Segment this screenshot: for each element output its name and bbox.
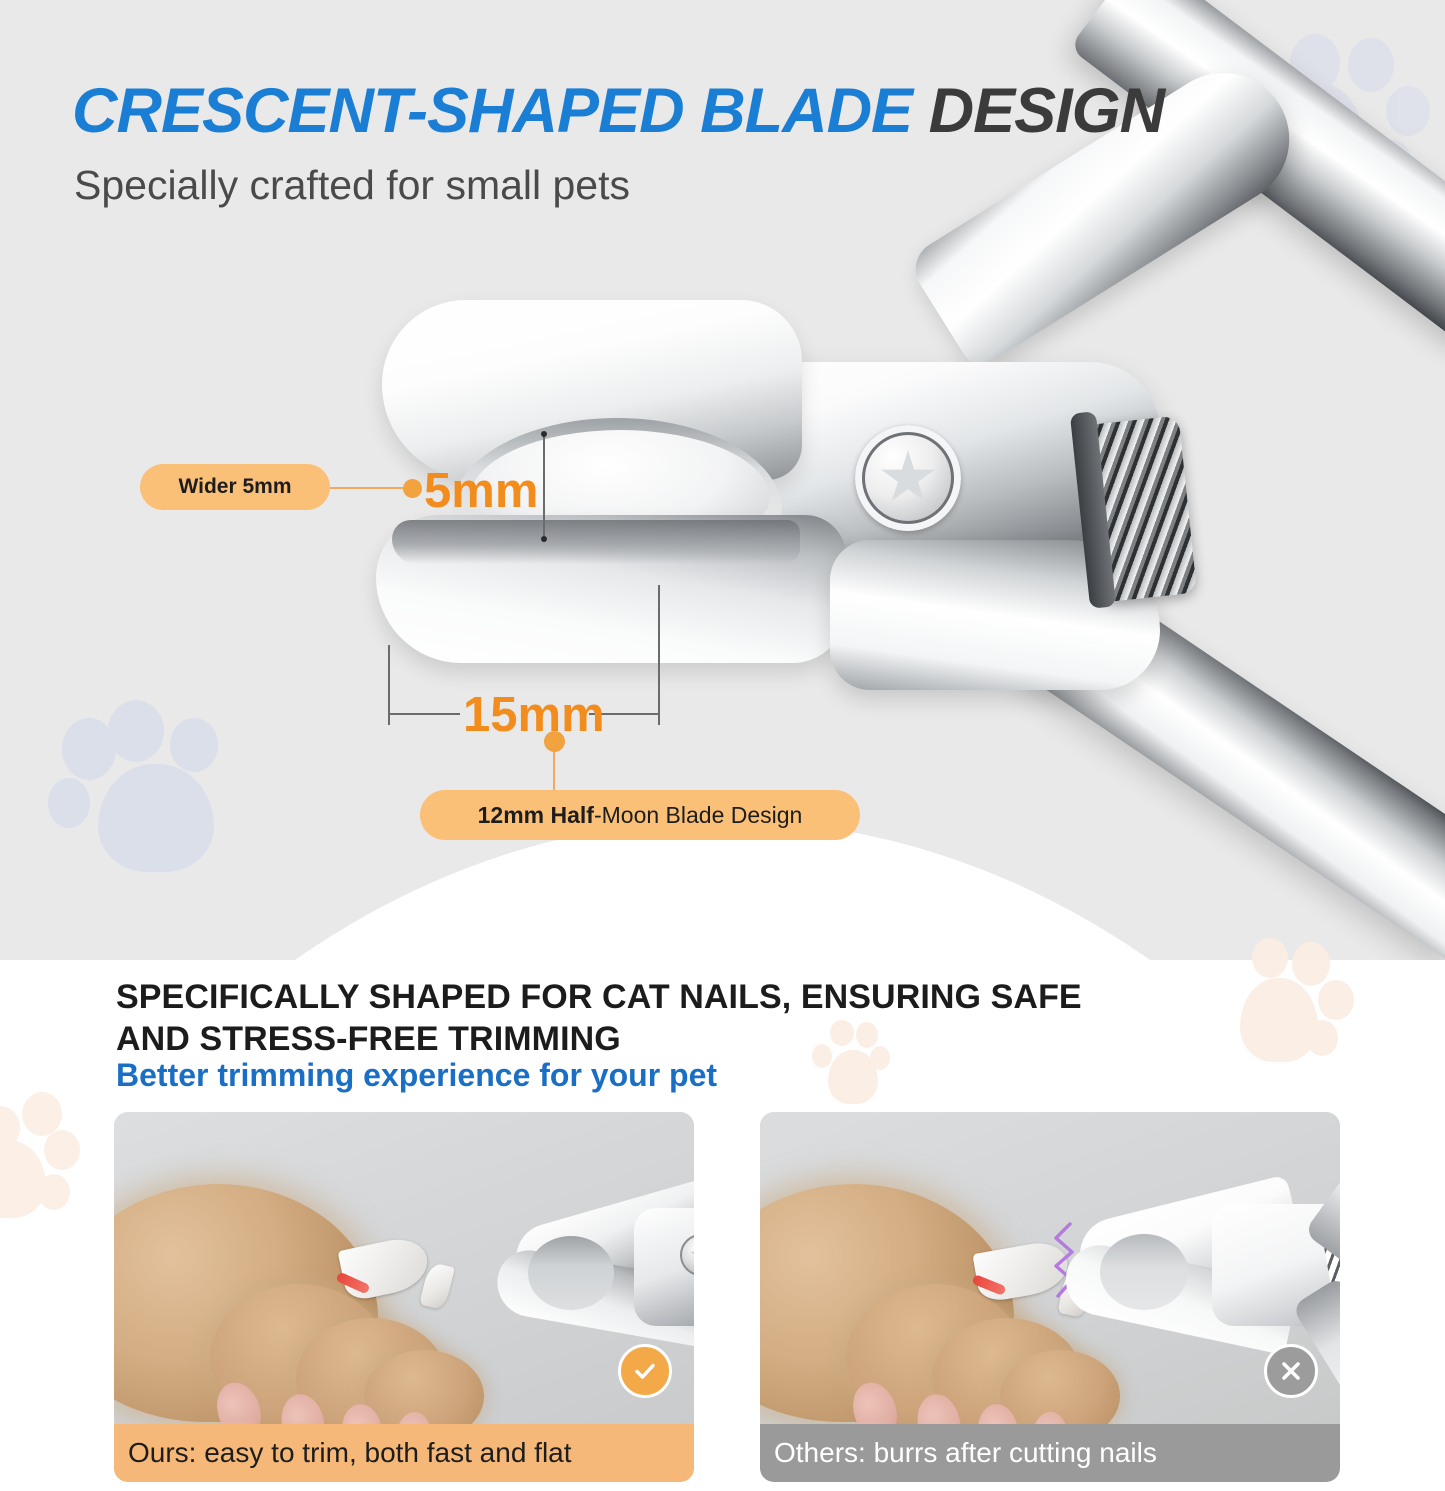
callout-dot-5mm: [403, 479, 422, 498]
comparison-section: SPECIFICALLY SHAPED FOR CAT NAILS, ENSUR…: [0, 880, 1445, 1491]
photo-ours-clean-cut: [114, 1112, 694, 1424]
paw-watermark-peach-left: [0, 1092, 112, 1232]
callout-halfmoon-bold: 12mm Half: [478, 802, 594, 829]
badge-cross-icon: [1264, 1344, 1318, 1398]
comparison-card-ours: Ours: easy to trim, both fast and flat: [114, 1112, 694, 1482]
page-subtitle: Specially crafted for small pets: [74, 160, 630, 211]
measure-label-5mm: 5mm: [424, 463, 538, 519]
paw-watermark-peach-right: [1230, 938, 1355, 1073]
section-heading: SPECIFICALLY SHAPED FOR CAT NAILS, ENSUR…: [116, 976, 1126, 1060]
measure-label-15mm: 15mm: [463, 687, 605, 743]
headline-blue-part: CRESCENT-SHAPED BLADE: [72, 76, 912, 146]
callout-halfmoon-blade-design: 12mm Half-Moon Blade Design: [420, 790, 860, 840]
callout-dot-15mm: [544, 731, 565, 752]
callout-halfmoon-rest: -Moon Blade Design: [594, 802, 802, 829]
caption-others: Others: burrs after cutting nails: [760, 1424, 1340, 1482]
photo-others-burr-cut: [760, 1112, 1340, 1424]
headline-dark-part: DESIGN: [912, 76, 1164, 146]
caption-ours: Ours: easy to trim, both fast and flat: [114, 1424, 694, 1482]
callout-wider-5mm: Wider 5mm: [140, 464, 330, 510]
page-title: CRESCENT-SHAPED BLADE DESIGN: [72, 80, 1164, 143]
gap-dimension-cap-bottom: [541, 536, 547, 542]
width-guide-right: [658, 585, 660, 725]
badge-check-icon: [618, 1344, 672, 1398]
section-subheading: Better trimming experience for your pet: [116, 1057, 717, 1094]
gap-dimension-line: [543, 434, 545, 542]
comparison-card-others: Others: burrs after cutting nails: [760, 1112, 1340, 1482]
callout-leader-line-horizontal: [330, 487, 408, 489]
hero-section: Wider 5mm 5mm 15mm 12mm Half-Moon Blade …: [0, 0, 1445, 960]
gap-dimension-cap-top: [541, 431, 547, 437]
width-dimension-line-left: [388, 713, 460, 715]
infographic-page: Wider 5mm 5mm 15mm 12mm Half-Moon Blade …: [0, 0, 1445, 1491]
